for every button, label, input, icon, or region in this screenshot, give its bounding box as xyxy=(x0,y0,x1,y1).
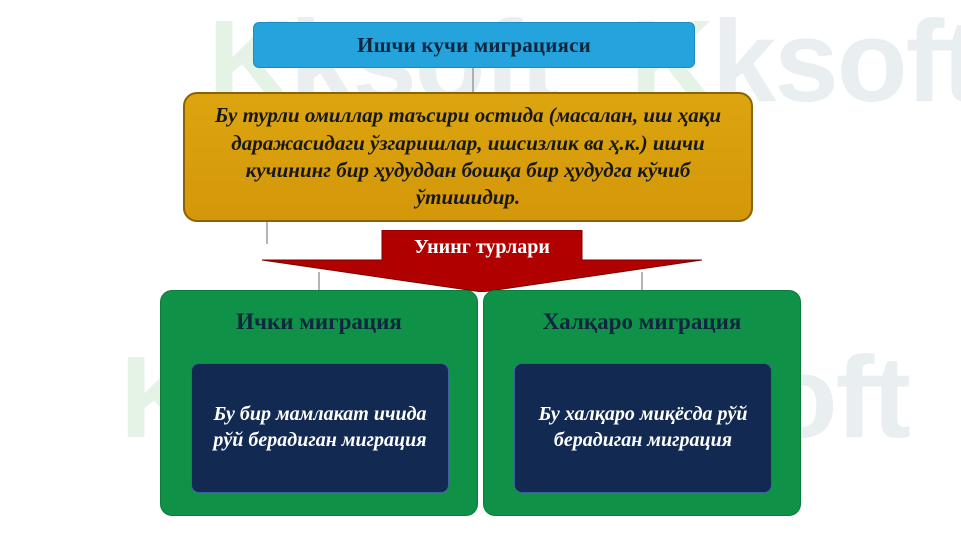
page-title: Ишчи кучи миграцияси xyxy=(357,33,591,58)
definition-box: Бу турли омиллар таъсири остида (масалан… xyxy=(183,92,753,222)
types-arrow: Унинг турлари xyxy=(262,230,702,292)
card-international-migration: Халқаро миграция Бу халқаро миқёсда рўй … xyxy=(483,290,801,516)
title-box: Ишчи кучи миграцияси xyxy=(253,22,695,68)
diagram-canvas: Ишчи кучи миграцияси Бу турли омиллар та… xyxy=(0,0,961,540)
card-heading: Ички миграция xyxy=(161,309,477,335)
card-body-box: Бу халқаро миқёсда рўй берадиган миграци… xyxy=(514,363,772,493)
card-body-box: Бу бир мамлакат ичида рўй берадиган мигр… xyxy=(191,363,449,493)
types-arrow-label: Унинг турлари xyxy=(262,232,702,262)
definition-text: Бу турли омиллар таъсири остида (масалан… xyxy=(211,102,725,211)
card-internal-migration: Ички миграция Бу бир мамлакат ичида рўй … xyxy=(160,290,478,516)
card-body-text: Бу бир мамлакат ичида рўй берадиган мигр… xyxy=(202,402,438,453)
card-heading: Халқаро миграция xyxy=(484,309,800,335)
card-body-text: Бу халқаро миқёсда рўй берадиган миграци… xyxy=(525,402,761,453)
